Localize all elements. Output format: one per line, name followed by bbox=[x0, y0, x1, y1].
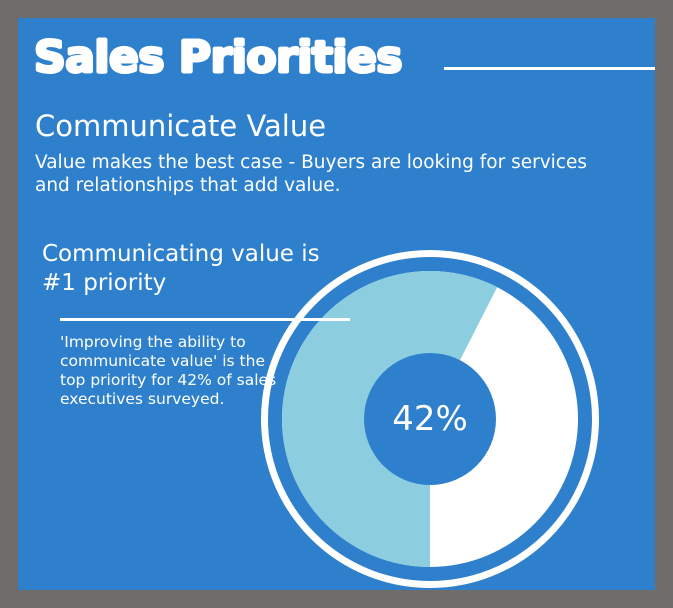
stat-body-text: 'Improving the ability to communicate va… bbox=[60, 333, 278, 409]
stat-heading: Communicating value is #1 priority bbox=[42, 240, 342, 298]
donut-chart: 42% bbox=[261, 250, 599, 588]
title-divider-rule bbox=[444, 67, 673, 70]
stat-divider-rule bbox=[60, 318, 350, 321]
page-title: Sales Priorities bbox=[34, 30, 402, 86]
stat-block: Communicating value is #1 priority 'Impr… bbox=[42, 240, 342, 298]
title-row: Sales Priorities bbox=[34, 30, 655, 92]
intro-paragraph: Value makes the best case - Buyers are l… bbox=[35, 151, 615, 197]
donut-chart-svg: 42% bbox=[261, 250, 599, 588]
infographic-canvas: Sales Priorities Communicate Value Value… bbox=[0, 0, 673, 608]
donut-center-value: 42% bbox=[392, 399, 468, 439]
section-subhead: Communicate Value bbox=[35, 108, 326, 144]
